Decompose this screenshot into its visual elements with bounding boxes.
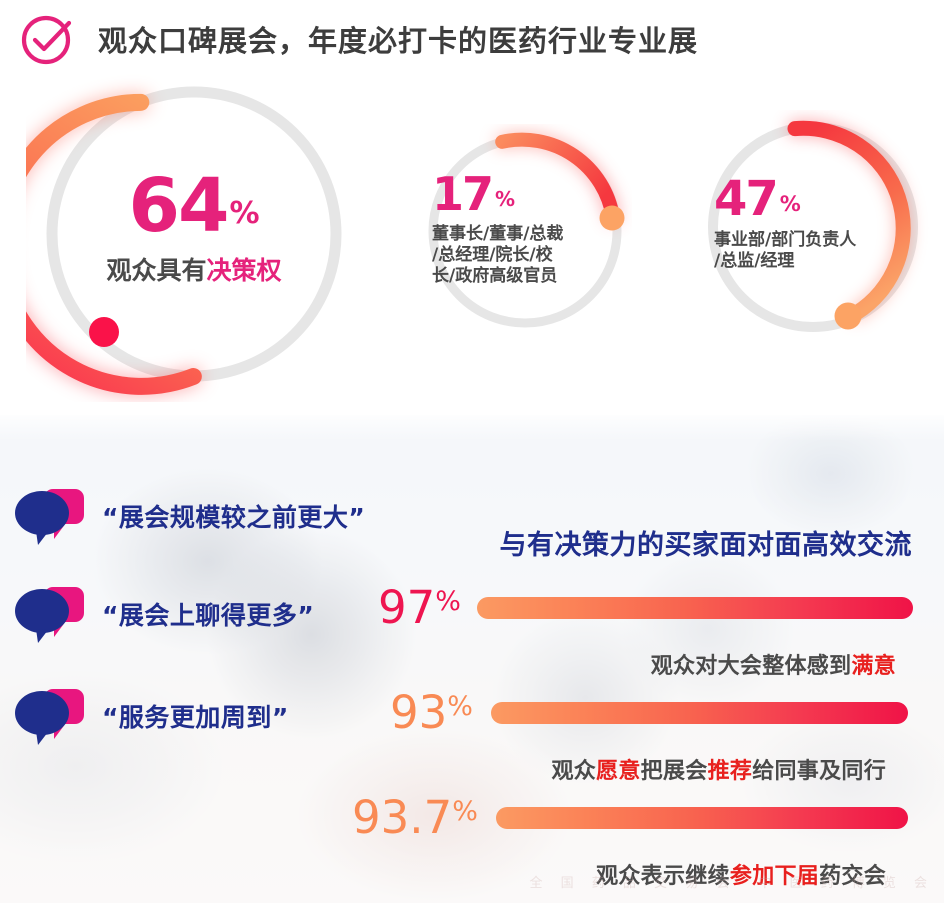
caption-part-highlight: 满意: [851, 654, 896, 679]
speech-bubbles-icon: [14, 687, 88, 745]
quote-row: “服务更加周到”: [14, 687, 289, 745]
speech-bubbles-icon: [14, 585, 88, 643]
stat-bar-row: 93 %: [390, 690, 918, 735]
stat-value: 93 %: [390, 690, 473, 735]
progress-bar: [491, 702, 908, 724]
testimonial-photo-section: “展会规模较之前更大” “展会上聊得更多” “服务更加周到” 与有决策力的买家面…: [0, 415, 944, 903]
stat-percent-sign: %: [447, 693, 473, 720]
page-title: 观众口碑展会，年度必打卡的医药行业专业展: [98, 18, 698, 60]
stat-bar-row: 97 %: [378, 585, 918, 630]
caption-part-highlight: 愿意: [596, 759, 641, 784]
stat-bar-row: 93.7 %: [352, 795, 918, 840]
caption-part: 观众对大会整体感到: [651, 654, 852, 679]
stat-caption: 观众愿意把展会推荐给同事及同行: [390, 753, 886, 785]
page-headline: 观众口碑展会，年度必打卡的医药行业专业展: [18, 8, 698, 70]
quote-row: “展会规模较之前更大”: [14, 487, 365, 545]
caption-part-highlight: 参加下届: [730, 864, 819, 889]
stat-return: 93.7 % 观众表示继续参加下届药交会: [352, 795, 918, 890]
stat-value: 97 %: [378, 585, 461, 630]
stat-percent-sign: %: [435, 588, 461, 615]
top-statistics-section: 观众口碑展会，年度必打卡的医药行业专业展: [0, 0, 944, 415]
caption-part: 给同事及同行: [752, 759, 886, 784]
stat-percent-sign: %: [452, 798, 478, 825]
stat-value: 93.7 %: [352, 795, 478, 840]
progress-bar: [477, 597, 913, 619]
quote-text: “展会规模较之前更大”: [102, 498, 365, 534]
caption-part: 药交会: [819, 864, 886, 889]
stat-satisfaction: 97 % 观众对大会整体感到满意: [378, 585, 918, 680]
caption-part: 观众: [551, 759, 596, 784]
caption-part: 观众表示继续: [596, 864, 730, 889]
quote-text: “服务更加周到”: [102, 698, 289, 734]
stat-caption: 观众表示继续参加下届药交会: [352, 858, 886, 890]
photo-top-fade: [0, 415, 944, 441]
quote-row: “展会上聊得更多”: [14, 585, 314, 643]
quote-text: “展会上聊得更多”: [102, 596, 314, 632]
donut-chart-department-head: 47 % 事业部/部门负责人 /总监/经理: [696, 110, 930, 344]
stat-value-number: 93.7: [352, 795, 452, 840]
stat-value-number: 93: [390, 690, 447, 735]
progress-bar: [496, 807, 908, 829]
stat-value-number: 97: [378, 585, 435, 630]
stat-caption: 观众对大会整体感到满意: [378, 648, 896, 680]
speech-bubbles-icon: [14, 487, 88, 545]
donut-chart-chairman: 17 % 董事长/董事/总裁 /总经理/院长/校 长/政府高级官员: [418, 124, 632, 338]
stat-recommend: 93 % 观众愿意把展会推荐给同事及同行: [390, 690, 918, 785]
check-circle-icon: [18, 8, 80, 70]
caption-part: 把展会: [641, 759, 708, 784]
donut-chart-audience-decision: 64 % 观众具有决策权: [26, 66, 362, 402]
caption-part-highlight: 推荐: [708, 759, 753, 784]
section-headline: 与有决策力的买家面对面高效交流: [500, 523, 913, 562]
